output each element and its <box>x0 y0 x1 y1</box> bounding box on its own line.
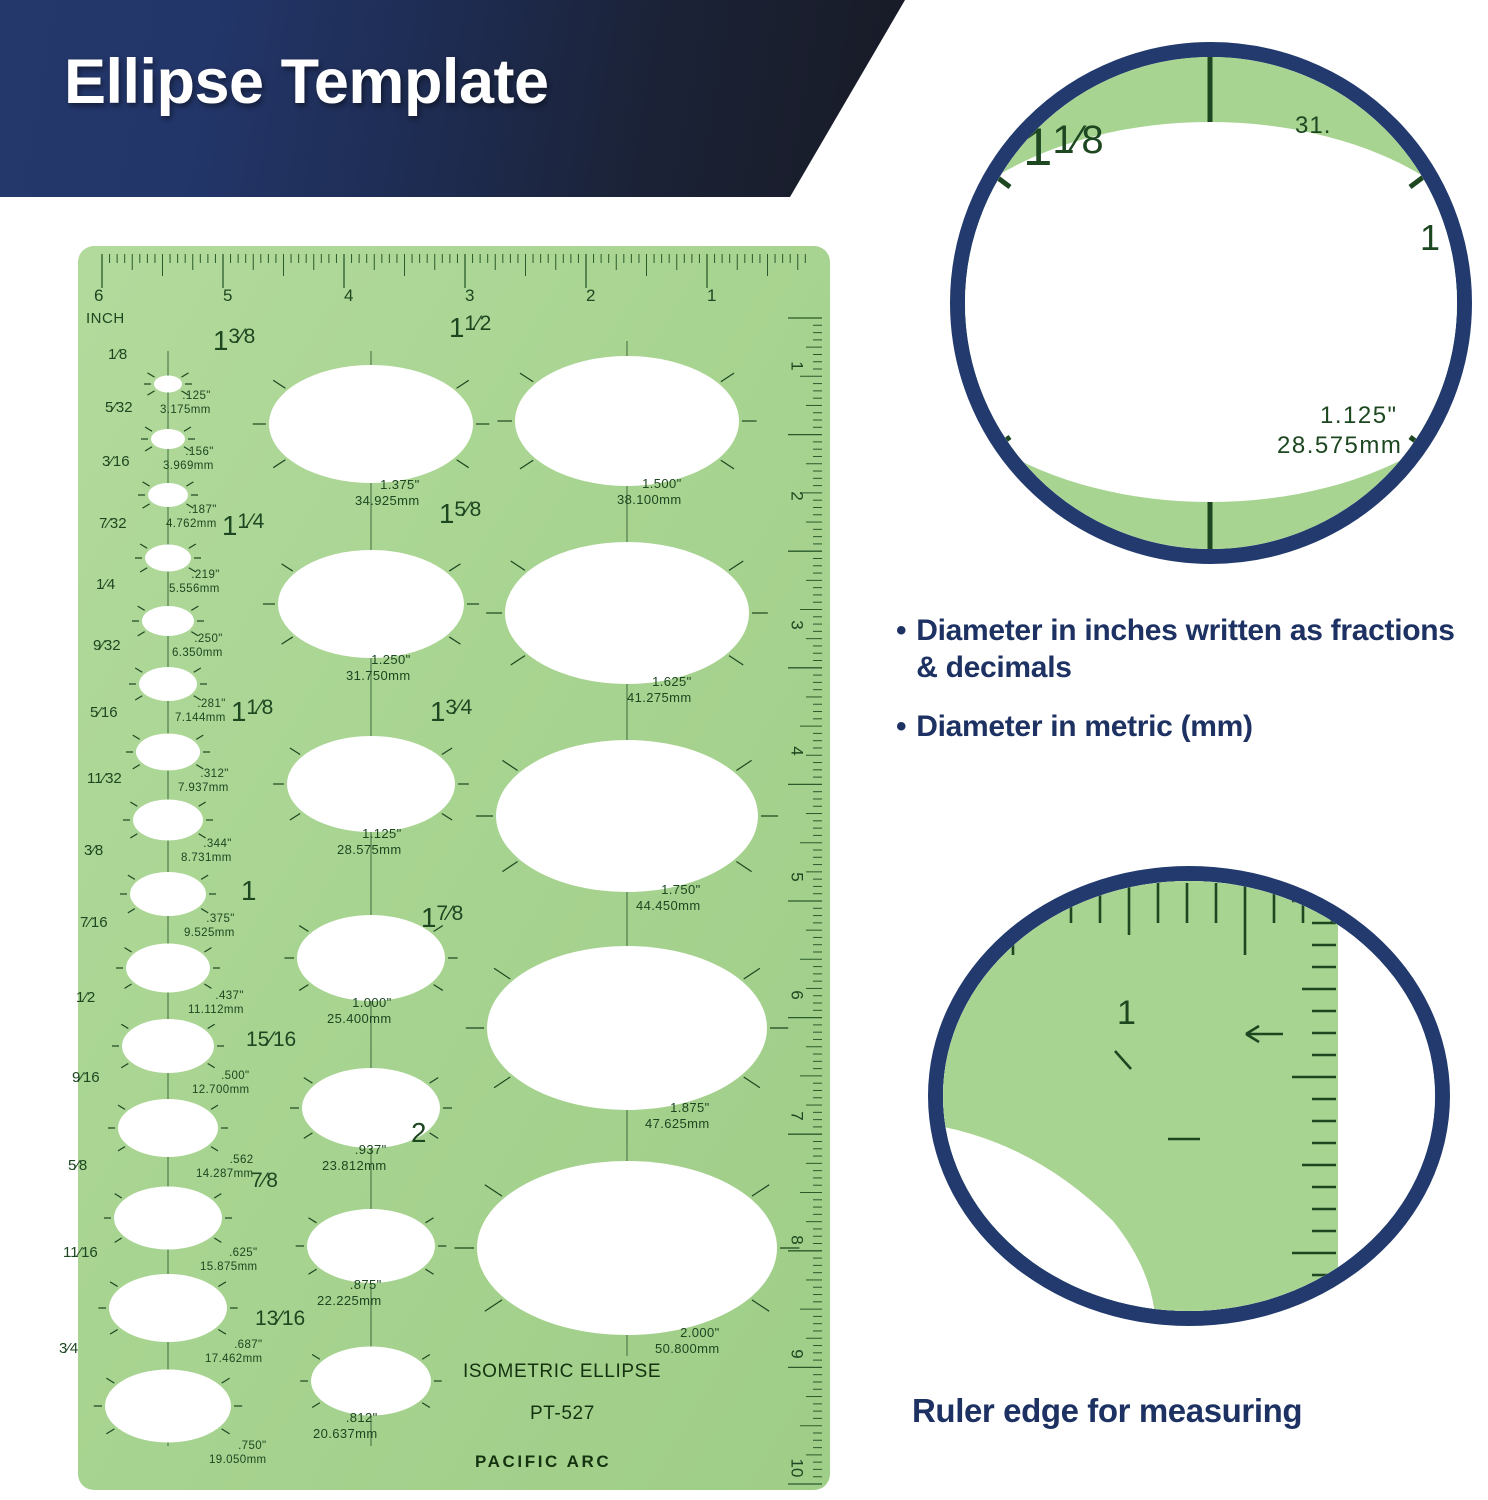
callout-top-inch-value: 1.125" <box>1320 402 1398 430</box>
callout-top-fraction: 11⁄8 <box>1023 117 1134 178</box>
top-ruler-tick-4: 4 <box>344 286 353 306</box>
fraction-denominator: 8 <box>79 1157 87 1174</box>
dimension-mm: 15.875mm <box>200 1260 258 1274</box>
fraction: 7⁄32 <box>99 515 130 538</box>
fraction-denominator: 2 <box>480 312 492 335</box>
fraction: 1⁄8 <box>246 696 289 728</box>
right-ruler-tick-4: 4 <box>787 746 807 755</box>
ellipse-fraction-label: 15⁄8 <box>439 498 497 530</box>
brand-line-manufacturer: PACIFIC ARC <box>475 1452 611 1472</box>
whole-number: 1 <box>439 498 454 529</box>
fraction-numerator: 3 <box>228 325 240 348</box>
dimension-inches: .125" <box>160 389 211 403</box>
dimension-inches: .875" <box>317 1277 382 1293</box>
dimension-mm: 9.525mm <box>184 926 235 940</box>
dimension-mm: 12.700mm <box>192 1083 250 1097</box>
fraction: 5⁄32 <box>105 399 136 422</box>
dimension-mm: 34.925mm <box>355 493 420 509</box>
fraction-numerator: 1 <box>246 696 258 719</box>
bullet-text-2: Diameter in metric (mm) <box>916 708 1253 745</box>
fraction: 7⁄8 <box>251 1169 294 1201</box>
ellipse-dimension-label: .344"8.731mm <box>181 837 232 866</box>
callout-circle-ruler-edge: 1 <box>928 866 1450 1326</box>
template-svg <box>78 246 830 1490</box>
ellipse-dimension-label: .625"15.875mm <box>200 1246 258 1275</box>
ellipse-dimension-label: 1.375"34.925mm <box>355 477 420 510</box>
dimension-inches: 1.750" <box>636 882 701 898</box>
fraction: 5⁄8 <box>68 1157 99 1180</box>
top-ruler-tick-3: 3 <box>465 286 474 306</box>
right-ruler-tick-6: 6 <box>787 990 807 999</box>
fraction-numerator: 11 <box>63 1244 79 1261</box>
whole-number: 1 <box>421 902 436 933</box>
dimension-inches: .437" <box>188 989 244 1003</box>
dimension-inches: .156" <box>163 445 214 459</box>
right-ruler-tick-10: 10 <box>786 1459 806 1478</box>
dimension-inches: 1.625" <box>627 674 692 690</box>
fraction: 7⁄16 <box>80 914 111 937</box>
callout-bottom-ruler-tick: 1 <box>1117 994 1136 1033</box>
top-ruler-tick-6: 6 <box>94 286 103 306</box>
fraction-denominator: 4 <box>253 510 265 533</box>
ellipse-fraction-label: 7⁄8 <box>251 1169 294 1201</box>
inch-unit-label: INCH <box>86 310 125 327</box>
ellipse-dimension-label: .250"6.350mm <box>172 632 223 661</box>
whole-number: 1 <box>241 875 256 906</box>
fraction: 1⁄4 <box>237 510 280 542</box>
callout-bottom-svg <box>928 866 1450 1326</box>
fraction-denominator: 8 <box>470 498 482 521</box>
ellipse-dimension-label: .125"3.175mm <box>160 389 211 418</box>
right-ruler-tick-8: 8 <box>787 1235 807 1244</box>
ellipse-dimension-label: 1.500"38.100mm <box>617 476 682 509</box>
dimension-mm: 8.731mm <box>181 851 232 865</box>
top-ruler-tick-2: 2 <box>586 286 595 306</box>
fraction-numerator: 7 <box>436 902 448 925</box>
dimension-inches: .219" <box>169 568 220 582</box>
whole-number: 1 <box>213 325 228 356</box>
ellipse-fraction-label: 5⁄16 <box>90 704 121 727</box>
dimension-inches: .750" <box>209 1439 267 1453</box>
product-infographic: Ellipse Template <box>0 0 1488 1500</box>
fraction-denominator: 32 <box>104 637 121 654</box>
fraction-denominator: 8 <box>119 346 127 363</box>
ellipse-fraction-label: 11⁄32 <box>87 770 118 793</box>
bullet-dot-icon: • <box>896 708 906 745</box>
fraction-denominator: 16 <box>273 1028 296 1051</box>
top-ruler-tick-1: 1 <box>707 286 716 306</box>
ellipse-dimension-label: .281"7.144mm <box>175 697 226 726</box>
ruler-edge-caption: Ruler edge for measuring <box>912 1392 1482 1430</box>
fraction: 1⁄8 <box>108 346 139 369</box>
dimension-inches: 1.125" <box>337 826 402 842</box>
callout-top-whole: 1 <box>1023 118 1052 177</box>
whole-number: 2 <box>411 1117 426 1148</box>
fraction-denominator: 16 <box>83 1069 100 1086</box>
dimension-mm: 17.462mm <box>205 1352 263 1366</box>
fraction-numerator: 1 <box>237 510 249 533</box>
right-ruler-tick-3: 3 <box>787 620 807 629</box>
fraction: 13⁄16 <box>255 1307 298 1339</box>
callout-top-numerator: 1 <box>1052 118 1074 162</box>
fraction: 9⁄32 <box>93 637 124 660</box>
fraction: 11⁄16 <box>63 1244 94 1267</box>
dimension-mm: 5.556mm <box>169 582 220 596</box>
dimension-inches: .687" <box>205 1338 263 1352</box>
dimension-mm: 25.400mm <box>327 1011 392 1027</box>
fraction-numerator: 1 <box>464 312 476 335</box>
dimension-mm: 31.750mm <box>346 668 411 684</box>
fraction: 3⁄4 <box>445 696 488 728</box>
dimension-mm: 3.969mm <box>163 459 214 473</box>
dimension-mm: 6.350mm <box>172 646 223 660</box>
ellipse-dimension-label: .875"22.225mm <box>317 1277 382 1310</box>
fraction: 9⁄16 <box>72 1069 103 1092</box>
ellipse-fraction-label: 15⁄16 <box>246 1028 289 1060</box>
ellipse-dimension-label: .687"17.462mm <box>205 1338 263 1367</box>
top-ruler-tick-5: 5 <box>223 286 232 306</box>
fraction: 1⁄4 <box>96 576 127 599</box>
ellipse-template-body: 6 5 4 3 2 1 INCH 1 2 3 4 5 6 7 8 9 10 IS… <box>78 246 830 1490</box>
ellipse-dimension-label: 1.875"47.625mm <box>645 1100 710 1133</box>
fraction-denominator: 16 <box>113 453 130 470</box>
dimension-inches: .187" <box>166 503 217 517</box>
fraction: 3⁄16 <box>102 453 133 476</box>
ellipse-fraction-label: 17⁄8 <box>421 902 479 934</box>
fraction: 3⁄8 <box>228 325 271 357</box>
ellipse-fraction-label: 1⁄4 <box>96 576 127 599</box>
brand-line-isometric-ellipse: ISOMETRIC ELLIPSE <box>463 1361 661 1383</box>
ellipse-fraction-label: 3⁄16 <box>102 453 133 476</box>
dimension-mm: 14.287mm <box>196 1167 254 1181</box>
dimension-mm: 23.812mm <box>322 1158 387 1174</box>
ellipse-dimension-label: 1.750"44.450mm <box>636 882 701 915</box>
fraction-denominator: 16 <box>81 1244 98 1261</box>
dimension-mm: 50.800mm <box>655 1341 720 1357</box>
ellipse-fraction-label: 5⁄8 <box>68 1157 99 1180</box>
callout-circle-diameter-labels: 11⁄8 31. 1 1.125" 28.575mm <box>950 42 1472 564</box>
ellipse-fraction-label: 11⁄8 <box>231 696 289 728</box>
dimension-mm: 28.575mm <box>337 842 402 858</box>
dimension-inches: .312" <box>178 767 229 781</box>
dimension-inches: 1.000" <box>327 995 392 1011</box>
ellipse-dimension-label: .500"12.700mm <box>192 1069 250 1098</box>
fraction-denominator: 32 <box>105 770 122 787</box>
list-item: • Diameter in metric (mm) <box>896 708 1476 745</box>
ellipse-dimension-label: .937"23.812mm <box>322 1142 387 1175</box>
dimension-inches: .250" <box>172 632 223 646</box>
fraction-numerator: 3 <box>445 696 457 719</box>
fraction: 3⁄4 <box>59 1340 90 1363</box>
ellipse-fraction-label: 7⁄16 <box>80 914 111 937</box>
ellipse-dimension-label: 1.125"28.575mm <box>337 826 402 859</box>
ellipse-dimension-label: .750"19.050mm <box>209 1439 267 1468</box>
dimension-inches: .562 <box>196 1153 254 1167</box>
dimension-inches: 1.875" <box>645 1100 710 1116</box>
dimension-mm: 7.937mm <box>178 781 229 795</box>
whole-number: 1 <box>231 696 246 727</box>
ellipse-dimension-label: 1.250"31.750mm <box>346 652 411 685</box>
ellipse-fraction-label: 5⁄32 <box>105 399 136 422</box>
fraction: 7⁄8 <box>436 902 479 934</box>
whole-number: 1 <box>449 312 464 343</box>
fraction-numerator: 11 <box>87 770 103 787</box>
dimension-inches: .344" <box>181 837 232 851</box>
ellipse-dimension-label: 2.000"50.800mm <box>655 1325 720 1358</box>
dimension-mm: 38.100mm <box>617 492 682 508</box>
right-ruler-tick-9: 9 <box>787 1349 807 1358</box>
dimension-mm: 47.625mm <box>645 1116 710 1132</box>
fraction-denominator: 32 <box>110 515 127 532</box>
fraction-denominator: 32 <box>116 399 133 416</box>
dimension-inches: .375" <box>184 912 235 926</box>
dimension-inches: 1.375" <box>355 477 420 493</box>
dimension-mm: 20.637mm <box>313 1426 378 1442</box>
fraction-numerator: 15 <box>246 1028 269 1051</box>
fraction-numerator: 7 <box>251 1169 263 1192</box>
callout-top-denominator: 8 <box>1081 118 1103 162</box>
bullet-text-1: Diameter in inches written as fractions … <box>916 612 1476 686</box>
ellipse-fraction-label: 13⁄16 <box>255 1307 298 1339</box>
dimension-inches: .281" <box>175 697 226 711</box>
ellipse-fraction-label: 13⁄4 <box>430 696 488 728</box>
ellipse-dimension-label: .56214.287mm <box>196 1153 254 1182</box>
ellipse-fraction-label: 2 <box>411 1117 426 1149</box>
dimension-mm: 44.450mm <box>636 898 701 914</box>
fraction-denominator: 16 <box>101 704 118 721</box>
callout-top-mm-value: 28.575mm <box>1277 432 1402 460</box>
ellipse-fraction-label: 11⁄4 <box>222 510 280 542</box>
dimension-mm: 7.144mm <box>175 711 226 725</box>
right-ruler-tick-7: 7 <box>787 1111 807 1120</box>
fraction-denominator: 8 <box>266 1169 278 1192</box>
fraction-numerator: 5 <box>454 498 466 521</box>
ellipse-fraction-label: 1⁄8 <box>108 346 139 369</box>
dimension-inches: 1.250" <box>346 652 411 668</box>
right-ruler-tick-2: 2 <box>787 491 807 500</box>
fraction-denominator: 4 <box>461 696 473 719</box>
fraction-numerator: 13 <box>255 1307 278 1330</box>
dimension-mm: 11.112mm <box>188 1003 244 1017</box>
fraction-denominator: 2 <box>87 989 95 1006</box>
fraction: 11⁄32 <box>87 770 118 793</box>
ellipse-dimension-label: .312"7.937mm <box>178 767 229 796</box>
brand-line-model-number: PT-527 <box>530 1403 595 1425</box>
ellipse-fraction-label: 11⁄16 <box>63 1244 94 1267</box>
dimension-inches: .812" <box>313 1410 378 1426</box>
fraction: 1⁄2 <box>464 312 507 344</box>
dimension-mm: 41.275mm <box>627 690 692 706</box>
callout-top-partial-inch: 1 <box>1420 217 1440 259</box>
dimension-inches: .625" <box>200 1246 258 1260</box>
ellipse-dimension-label: .812"20.637mm <box>313 1410 378 1443</box>
page-title: Ellipse Template <box>64 48 549 117</box>
callout-bottom-zoom-content <box>928 866 1450 1326</box>
ellipse-dimension-label: 1.000"25.400mm <box>327 995 392 1028</box>
ellipse-dimension-label: .375"9.525mm <box>184 912 235 941</box>
fraction-denominator: 16 <box>282 1307 305 1330</box>
bullet-dot-icon: • <box>896 612 906 649</box>
fraction: 5⁄16 <box>90 704 121 727</box>
dimension-inches: 1.500" <box>617 476 682 492</box>
dimension-inches: .937" <box>322 1142 387 1158</box>
fraction-denominator: 16 <box>91 914 108 931</box>
ellipse-fraction-label: 1⁄2 <box>76 989 107 1012</box>
callout-top-partial-mm: 31. <box>1295 112 1331 140</box>
ellipse-fraction-label: 7⁄32 <box>99 515 130 538</box>
dimension-mm: 4.762mm <box>166 517 217 531</box>
ellipse-fraction-label: 3⁄8 <box>84 842 115 865</box>
ellipse-fraction-label: 11⁄2 <box>449 312 507 344</box>
feature-bullet-list: • Diameter in inches written as fraction… <box>896 612 1476 768</box>
fraction-denominator: 4 <box>107 576 115 593</box>
whole-number: 1 <box>430 696 445 727</box>
fraction-denominator: 8 <box>452 902 464 925</box>
dimension-inches: 2.000" <box>655 1325 720 1341</box>
fraction: 5⁄8 <box>454 498 497 530</box>
ellipse-fraction-label: 3⁄4 <box>59 1340 90 1363</box>
right-ruler-tick-5: 5 <box>787 872 807 881</box>
fraction-denominator: 8 <box>95 842 103 859</box>
ellipse-dimension-label: .219"5.556mm <box>169 568 220 597</box>
ellipse-fraction-label: 9⁄16 <box>72 1069 103 1092</box>
fraction: 1⁄2 <box>76 989 107 1012</box>
fraction-denominator: 8 <box>262 696 274 719</box>
ellipse-dimension-label: .156"3.969mm <box>163 445 214 474</box>
ellipse-dimension-label: .437"11.112mm <box>188 989 244 1018</box>
whole-number: 1 <box>222 510 237 541</box>
dimension-inches: .500" <box>192 1069 250 1083</box>
ellipse-fraction-label: 9⁄32 <box>93 637 124 660</box>
ellipse-fraction-label: 13⁄8 <box>213 325 271 357</box>
right-ruler-tick-1: 1 <box>787 361 807 370</box>
list-item: • Diameter in inches written as fraction… <box>896 612 1476 686</box>
ellipse-fraction-label: 1 <box>241 875 256 907</box>
ellipse-dimension-label: .187"4.762mm <box>166 503 217 532</box>
fraction: 3⁄8 <box>84 842 115 865</box>
fraction: 15⁄16 <box>246 1028 289 1060</box>
fraction-denominator: 4 <box>70 1340 78 1357</box>
dimension-mm: 19.050mm <box>209 1453 267 1467</box>
ellipse-dimension-label: 1.625"41.275mm <box>627 674 692 707</box>
dimension-mm: 22.225mm <box>317 1293 382 1309</box>
dimension-mm: 3.175mm <box>160 403 211 417</box>
fraction-denominator: 8 <box>244 325 256 348</box>
